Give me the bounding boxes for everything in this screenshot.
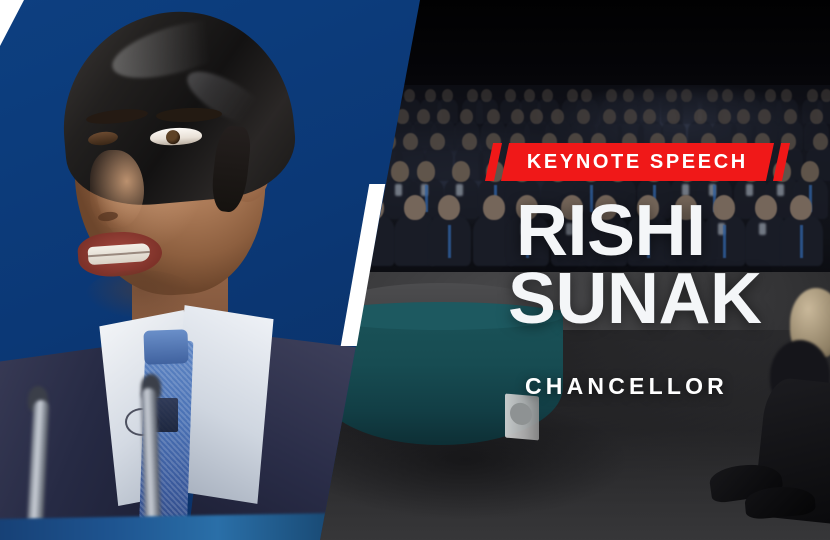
audience-head: [666, 89, 677, 102]
portrait-teeth: [87, 243, 150, 265]
audience-head: [643, 89, 654, 102]
audience-head: [813, 133, 828, 150]
audience-head: [483, 195, 505, 220]
audience-head: [452, 161, 470, 182]
audience-head: [438, 195, 460, 220]
audience-lanyard: [448, 225, 451, 258]
audience-head: [603, 109, 616, 124]
audience-head: [606, 89, 617, 102]
audience-head: [551, 109, 564, 124]
audience-head: [542, 89, 553, 102]
audience-head: [718, 109, 731, 124]
speaker-name-block: RISHI SUNAK: [516, 198, 816, 333]
banner-main-bar: KEYNOTE SPEECH: [501, 143, 774, 181]
audience-head: [487, 109, 500, 124]
audience-head: [391, 161, 409, 182]
title-card-graphic: KEYNOTE SPEECH RISHI SUNAK CHANCELLOR: [0, 0, 830, 540]
audience-head: [784, 109, 797, 124]
audience-head: [681, 89, 692, 102]
audience-head: [581, 89, 592, 102]
audience-head: [801, 161, 819, 182]
audience-head: [481, 89, 492, 102]
audience-head: [694, 109, 707, 124]
audience-head: [511, 109, 524, 124]
audience-head: [460, 109, 473, 124]
audience-head: [623, 89, 634, 102]
audience-head: [524, 89, 535, 102]
audience-head: [404, 89, 415, 102]
speaker-last-name: SUNAK: [508, 266, 816, 334]
audience-head: [467, 89, 478, 102]
speaker-first-name: RISHI: [516, 198, 816, 266]
audience-head: [530, 109, 543, 124]
audience-shirt: [746, 184, 753, 196]
audience-head: [404, 195, 426, 220]
audience-head: [821, 89, 830, 102]
audience-head: [737, 109, 750, 124]
audience-head: [577, 109, 590, 124]
podium-desk: [0, 513, 340, 540]
floor-monitor-speaker: [505, 394, 539, 441]
audience-head: [505, 89, 516, 102]
audience-head: [781, 89, 792, 102]
audience-head: [437, 109, 450, 124]
audience-head: [462, 133, 477, 150]
audience-head: [425, 89, 436, 102]
audience-head: [403, 133, 418, 150]
audience-head: [624, 109, 637, 124]
audience-head: [707, 89, 718, 102]
keynote-banner: KEYNOTE SPEECH: [489, 143, 786, 181]
audience-shirt: [777, 184, 784, 196]
audience-head: [417, 109, 430, 124]
audience-head: [417, 161, 435, 182]
audience-shirt: [456, 184, 463, 196]
banner-label: KEYNOTE SPEECH: [527, 151, 748, 174]
audience-shirt: [395, 184, 402, 196]
portrait-necktie-knot: [143, 329, 188, 365]
audience-head: [807, 89, 818, 102]
audience-head: [722, 89, 733, 102]
audience-head: [744, 89, 755, 102]
audience-head: [643, 109, 656, 124]
audience-head: [810, 109, 823, 124]
audience-head: [758, 109, 771, 124]
speaker-portrait: [0, 0, 330, 540]
audience-head: [765, 89, 776, 102]
speaker-role: CHANCELLOR: [525, 373, 728, 400]
audience-head: [567, 89, 578, 102]
audience-head: [442, 89, 453, 102]
audience-head: [667, 109, 680, 124]
